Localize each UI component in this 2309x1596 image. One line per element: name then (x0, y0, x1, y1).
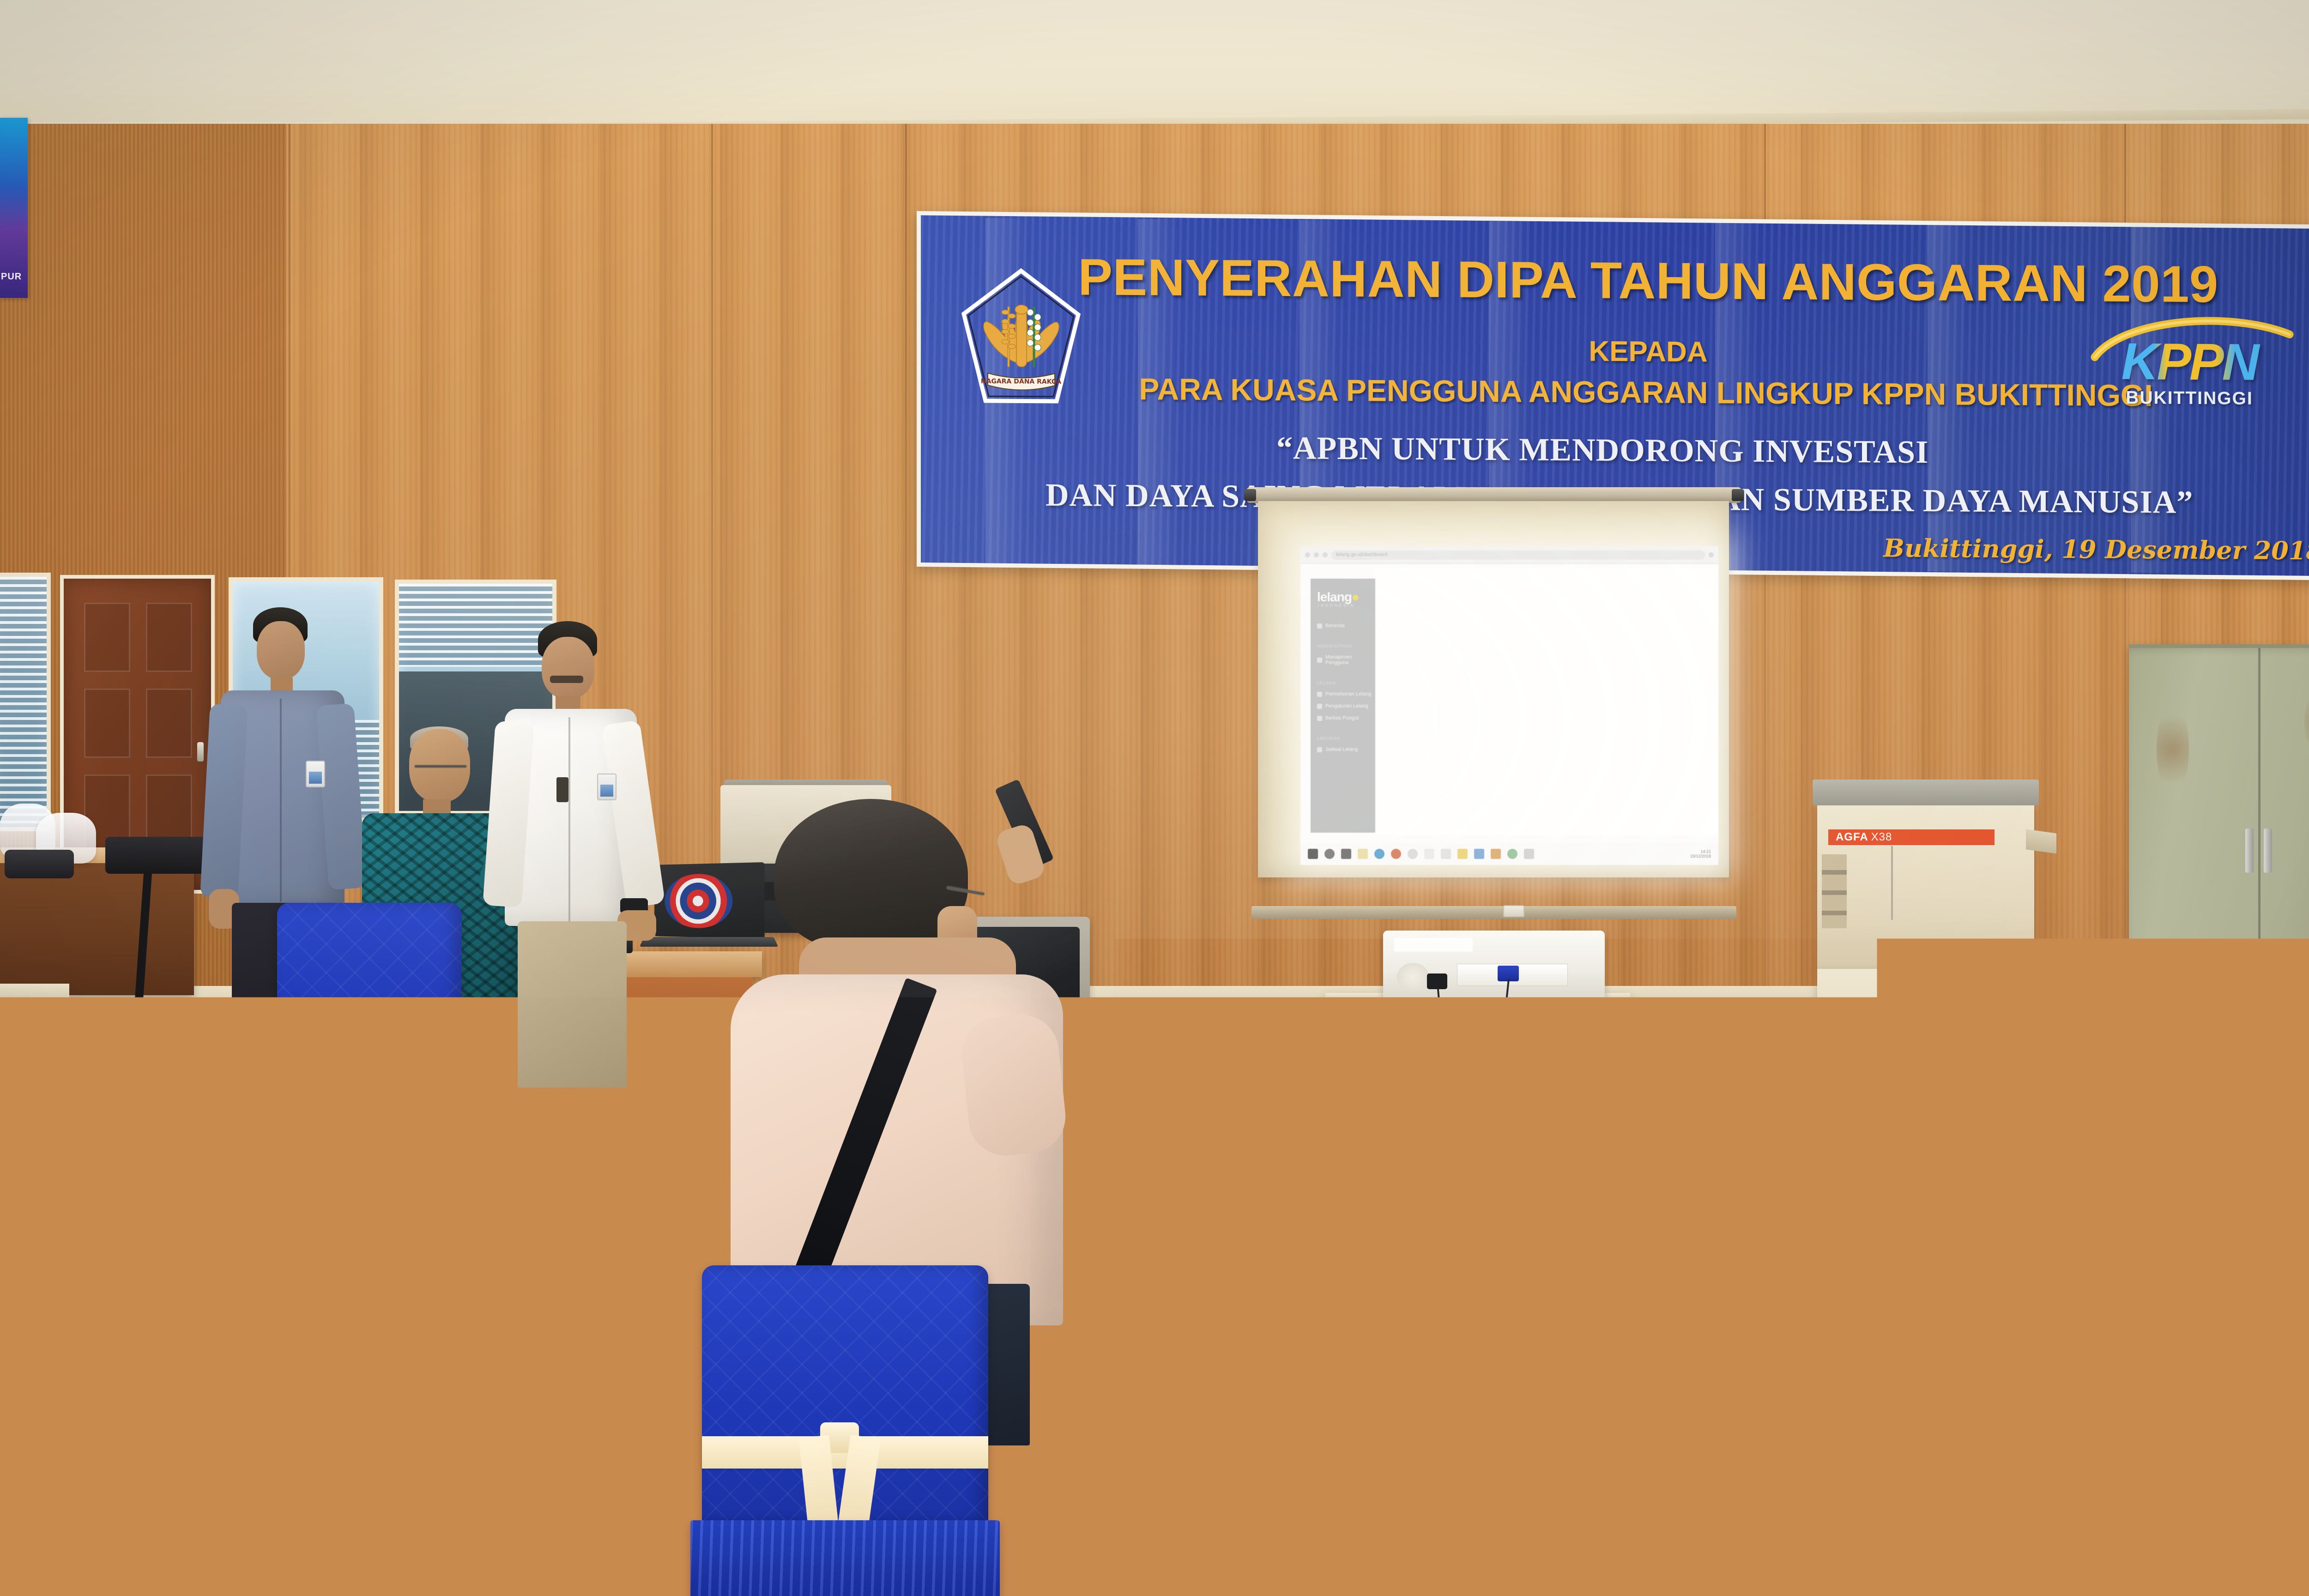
chair-row1-d[interactable] (2097, 1298, 2309, 1596)
chair-row1-b[interactable] (1191, 1293, 1496, 1596)
screen-weight-bar (1251, 906, 1736, 919)
side-poster-text: PUR (1, 272, 22, 282)
app-logo: lelang● (1317, 591, 1375, 604)
file-explorer-icon[interactable] (1358, 849, 1368, 859)
screen-rod-end (1244, 489, 1256, 501)
shirt-placket (568, 717, 570, 922)
taskbar-clock[interactable]: 14:21 19/12/2018 (1690, 849, 1711, 859)
vacuum-handle[interactable] (2021, 976, 2056, 1001)
copier-brand: AGFA (1836, 831, 1868, 844)
projection-screen: lelang.go.id/dashboard lelang● INDONESIA… (1247, 487, 1741, 919)
app-icon[interactable] (1524, 849, 1534, 859)
laptop-bag (105, 837, 207, 874)
windows-taskbar: 14:21 19/12/2018 (1300, 843, 1718, 865)
sidebar-item-label: Beranda (1325, 623, 1345, 629)
bench-seat (0, 984, 69, 1007)
moustache (550, 676, 583, 683)
app-content-area (1375, 568, 1718, 835)
app-logo-sub: INDONESIA (1318, 604, 1375, 608)
copier-output-tray (2026, 829, 2056, 853)
kppn-logo: KPPN BUKITTINGGI (2076, 317, 2303, 425)
screen-rod-end (1732, 489, 1744, 501)
id-badge (306, 761, 325, 787)
calendar-icon (1317, 747, 1322, 752)
banner-quote-line1: “APBN UNTUK MENDORONG INVESTASI (1276, 430, 1928, 471)
word-icon[interactable] (1474, 849, 1484, 859)
kppn-city-label: BUKITTINGGI (2076, 387, 2303, 409)
window-far-left (0, 573, 51, 831)
gear-icon (1317, 704, 1322, 709)
sidebar-item-pengaturan-lelang[interactable]: Pengaturan Lelang (1317, 700, 1375, 712)
projector-label (1394, 938, 1473, 952)
sidebar-item-permohonan-lelang[interactable]: Permohonan Lelang (1317, 688, 1375, 700)
banner-title: PENYERAHAN DIPA TAHUN ANGGARAN 2019 (1013, 247, 2283, 314)
sidebar-item-label: Berkas Pungut (1325, 715, 1359, 721)
bench-leg (54, 1007, 63, 1113)
app-logo-text: lelang (1317, 590, 1352, 604)
chair-row1-c[interactable] (1644, 1302, 1958, 1596)
cabinet-handle-icon[interactable] (2264, 828, 2272, 873)
projector-lens (1397, 963, 1429, 991)
cabinet-handle-icon[interactable] (2245, 828, 2254, 873)
chair-bow (2203, 1471, 2309, 1596)
copier-machine: AGFA X38 (1817, 804, 2034, 970)
copier-cable (1891, 846, 1893, 920)
app-icon[interactable] (1441, 849, 1451, 859)
search-icon[interactable] (1324, 849, 1335, 859)
sidebar-item-manajemen-pengguna[interactable]: Manajemen Pengguna (1317, 651, 1375, 669)
start-icon[interactable] (1308, 849, 1318, 859)
folder-icon (1317, 716, 1322, 721)
sidebar-group-label: LELANG (1317, 681, 1375, 685)
copier-paper-slots (1822, 854, 1847, 928)
cabinet-door-seam (2258, 648, 2261, 1078)
browser-url-bar[interactable]: lelang.go.id/dashboard (1331, 550, 1705, 560)
person-standing-white (487, 621, 653, 1088)
excel-icon[interactable] (1507, 849, 1517, 859)
sidebar-item-label: Pengaturan Lelang (1325, 703, 1368, 709)
bench-leg (0, 1007, 8, 1122)
chair-bow (1741, 1474, 1856, 1596)
screen-surface: lelang.go.id/dashboard lelang● INDONESIA… (1258, 501, 1729, 877)
sidebar-item-berkas-pungut[interactable]: Berkas Pungut (1317, 712, 1375, 724)
pocket-pen (556, 777, 568, 802)
browser-reload-icon[interactable] (1323, 552, 1328, 557)
copier-lid (1813, 780, 2039, 805)
id-badge (597, 774, 617, 800)
sidebar-group-label: ADMINISTRASI (1317, 644, 1375, 648)
chair-presenter[interactable] (277, 903, 462, 1318)
sidebar-item-beranda[interactable]: Beranda (1317, 620, 1375, 632)
firefox-icon[interactable] (1391, 849, 1401, 859)
shirt-placket (280, 699, 282, 902)
browser-back-icon[interactable] (1305, 552, 1310, 557)
browser-menu-icon[interactable] (1709, 552, 1714, 557)
chair-row1-a[interactable] (702, 1265, 988, 1596)
sidebar-item-jadwal-lelang[interactable]: Jadwal Lelang (1317, 744, 1375, 756)
banner-date: Bukittinggi, 19 Desember 2018 (1883, 533, 2309, 565)
taskbar-date: 19/12/2018 (1690, 854, 1711, 858)
screen-roller[interactable] (1247, 487, 1741, 503)
side-poster: PUR (0, 118, 28, 298)
kppn-wordmark: KPPN (2076, 331, 2303, 392)
app-icon[interactable] (1457, 849, 1468, 859)
users-icon (1317, 658, 1322, 663)
document-icon (1317, 692, 1322, 697)
copier-model: X38 (1871, 831, 1892, 844)
copier-brand-band: AGFA X38 (1828, 829, 1995, 845)
sidebar-item-label: Manajemen Pengguna (1325, 654, 1375, 665)
browser-toolbar: lelang.go.id/dashboard (1300, 546, 1718, 564)
dark-bag (5, 850, 74, 878)
home-icon (1317, 623, 1322, 629)
projected-desktop: lelang.go.id/dashboard lelang● INDONESIA… (1300, 546, 1718, 865)
app-icon[interactable] (1424, 849, 1434, 859)
wall-socket-icon (1503, 905, 1524, 917)
sidebar-item-label: Permohonan Lelang (1325, 691, 1371, 697)
chair-row3-d[interactable] (1030, 1076, 1182, 1473)
sidebar-group-label: LAPORAN (1317, 736, 1375, 741)
metal-cabinet[interactable] (2129, 644, 2309, 1078)
app-icon[interactable] (1408, 849, 1418, 859)
conference-room-photo: PUR (0, 0, 2309, 1596)
sidebar-item-label: Jadwal Lelang (1325, 747, 1358, 752)
trousers (518, 921, 627, 1088)
app-icon[interactable] (1491, 849, 1501, 859)
power-brick (1427, 973, 1447, 989)
browser-forward-icon[interactable] (1314, 552, 1319, 557)
app-sidebar: lelang● INDONESIA Beranda ADMINISTRASI M… (1311, 579, 1375, 833)
caster-wheel-icon (1819, 1118, 1833, 1132)
taskbar-time: 14:21 (1700, 849, 1711, 854)
task-view-icon[interactable] (1341, 849, 1351, 859)
browser-icon[interactable] (1374, 849, 1384, 859)
glasses-icon (415, 765, 466, 768)
projector (1383, 931, 1605, 1000)
